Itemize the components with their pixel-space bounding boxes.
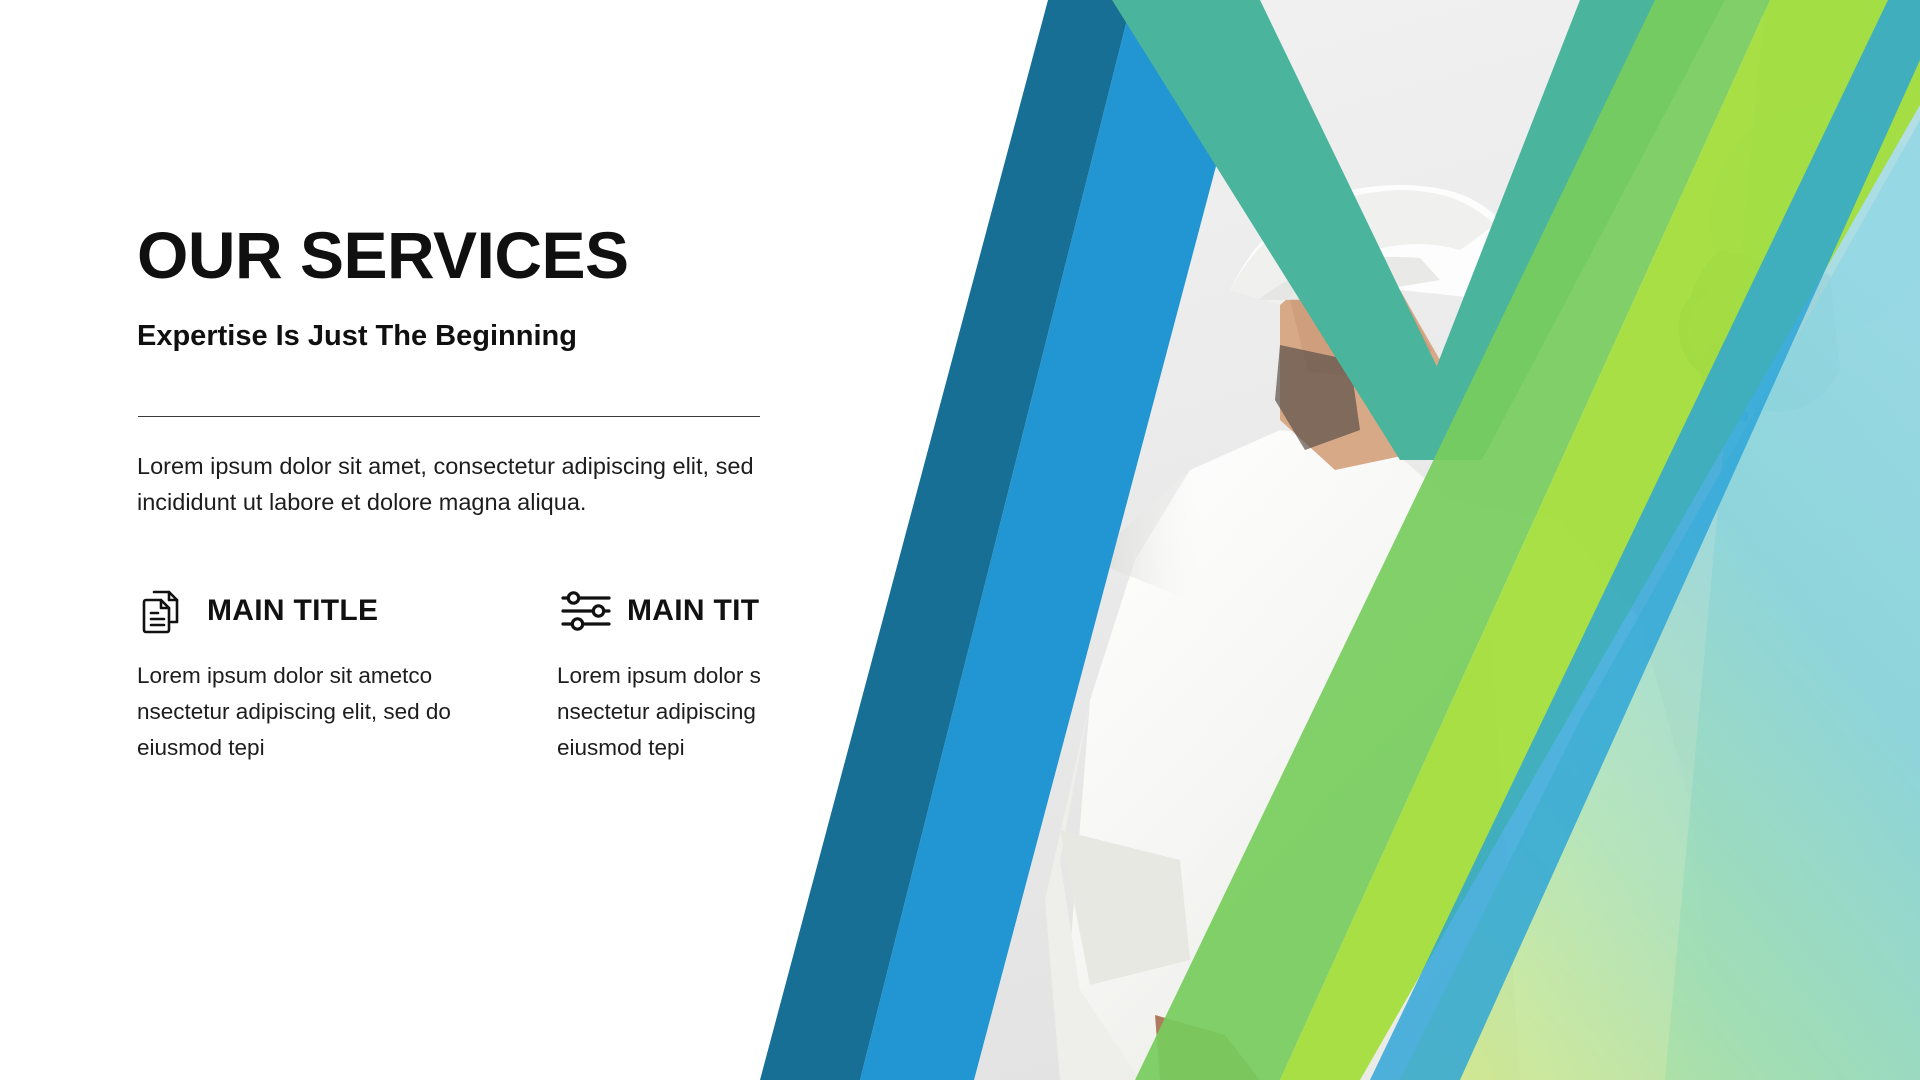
sliders-icon [557,582,615,640]
feature-header: MAIN TITLE [137,580,497,642]
feature-body: Lorem ipsum dolor sit ametco nsectetur a… [137,658,487,766]
slide-root: OUR SERVICES Expertise Is Just The Begin… [0,0,1920,1080]
page-title: OUR SERVICES [137,222,629,288]
page-subtitle: Expertise Is Just The Beginning [137,322,577,351]
feature-item: MAIN TITLE Lorem ipsum dolor sit ametco … [137,580,497,766]
documents-icon [137,582,195,640]
hero-graphic [760,0,1920,1080]
hero-graphic-svg [760,0,1920,1080]
feature-title: MAIN TITLE [207,594,378,628]
